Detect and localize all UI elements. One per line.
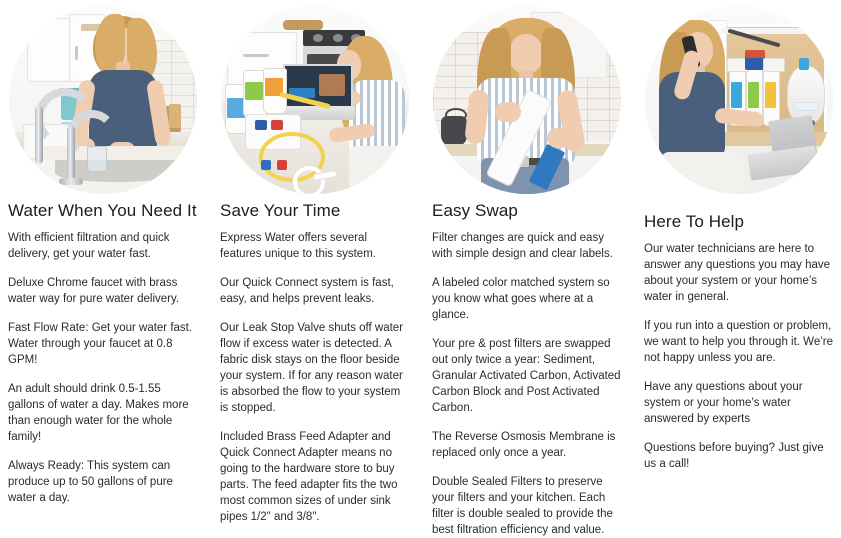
paragraph: Included Brass Feed Adapter and Quick Co… [220, 429, 409, 525]
paragraph: Questions before buying? Just give us a … [644, 440, 833, 472]
burner-1 [313, 34, 323, 42]
white-pants [349, 146, 403, 194]
counter-install-scene [221, 6, 409, 194]
filter-label-blue [227, 98, 245, 118]
feature-image-1-wrap [8, 0, 197, 194]
feature-heading-4: Here To Help [644, 211, 833, 232]
feature-column-1: Water When You Need It With efficient fi… [0, 0, 212, 490]
kettle-handle [445, 108, 467, 122]
woman-with-laptop-and-filter-parts-image [221, 6, 409, 194]
feature-grid-module: Water When You Need It With efficient fi… [0, 0, 841, 490]
wood-block-2 [169, 104, 181, 128]
feature-column-2: Save Your Time Express Water offers seve… [212, 0, 424, 490]
faucet-base [59, 178, 83, 185]
feature-body-1: With efficient filtration and quick deli… [8, 230, 197, 506]
ro-head-3 [763, 58, 785, 72]
paragraph: Fast Flow Rate: Get your water fast. Wat… [8, 320, 197, 368]
paragraph: Our Leak Stop Valve shuts off water flow… [220, 320, 409, 416]
paragraph: With efficient filtration and quick deli… [8, 230, 197, 262]
feature-image-4-wrap [644, 0, 833, 205]
filter-label-green [245, 82, 263, 100]
woman-at-kitchen-sink-filling-glass-image [9, 6, 197, 194]
paragraph: Our Quick Connect system is fast, easy, … [220, 275, 409, 307]
paragraph: If you run into a question or problem, w… [644, 318, 833, 366]
paragraph: Deluxe Chrome faucet with brass water wa… [8, 275, 197, 307]
left-hand [495, 102, 521, 122]
paragraph: Filter changes are quick and easy with s… [432, 230, 621, 262]
ro-label-blue [731, 82, 742, 108]
face [509, 34, 543, 74]
feature-body-2: Express Water offers several features un… [220, 230, 409, 525]
ro-label-yellow [765, 82, 776, 108]
feature-heading-1: Water When You Need It [8, 200, 197, 221]
feature-heading-2: Save Your Time [220, 200, 409, 221]
manifold-label-red [271, 120, 283, 130]
right-hand [547, 128, 571, 148]
support-call-scene [645, 6, 833, 194]
fitting-red [277, 160, 287, 170]
filter-faucet-neck [67, 126, 75, 182]
feature-heading-3: Easy Swap [432, 200, 621, 221]
ro-head-red [745, 50, 765, 58]
counter-front [39, 146, 197, 160]
paragraph: Your pre & post filters are swapped out … [432, 336, 621, 416]
paragraph: Our water technicians are here to answer… [644, 241, 833, 305]
fitting-blue [261, 160, 271, 170]
main-faucet-neck [35, 106, 43, 164]
woman-holding-filter-cartridge-image [433, 6, 621, 194]
paragraph: The Reverse Osmosis Membrane is replaced… [432, 429, 621, 461]
ro-label-green [748, 82, 759, 108]
feature-image-2-wrap [220, 0, 409, 194]
filter-wrench [293, 166, 325, 194]
cabinet-handle-1 [243, 54, 269, 57]
cartridge-scene [433, 6, 621, 194]
tank-label [793, 102, 819, 111]
paragraph: Always Ready: This system can produce up… [8, 458, 197, 506]
burner-2 [333, 34, 343, 42]
paragraph: Express Water offers several features un… [220, 230, 409, 262]
white-pants [661, 152, 743, 194]
screen-content-2 [319, 74, 345, 96]
manifold-label-blue [255, 120, 267, 130]
paragraph: An adult should drink 0.5-1.55 gallons o… [8, 381, 197, 445]
feature-body-3: Filter changes are quick and easy with s… [432, 230, 621, 538]
kitchen-sink-scene [9, 6, 197, 194]
feature-body-4: Our water technicians are here to answer… [644, 241, 833, 472]
wood-bowl [283, 20, 323, 30]
paragraph: Double Sealed Filters to preserve your f… [432, 474, 621, 538]
woman-on-phone-with-under-sink-system-image [645, 6, 833, 194]
paragraph: A labeled color matched system so you kn… [432, 275, 621, 323]
tank-valve [799, 58, 809, 70]
feature-column-3: Easy Swap Filter changes are quick and e… [424, 0, 636, 490]
feature-image-3-wrap [432, 0, 621, 194]
feature-column-4: Here To Help Our water technicians are h… [636, 0, 841, 490]
drinking-glass [87, 146, 107, 172]
cabinet-handle [75, 46, 78, 60]
paragraph: Have any questions about your system or … [644, 379, 833, 427]
